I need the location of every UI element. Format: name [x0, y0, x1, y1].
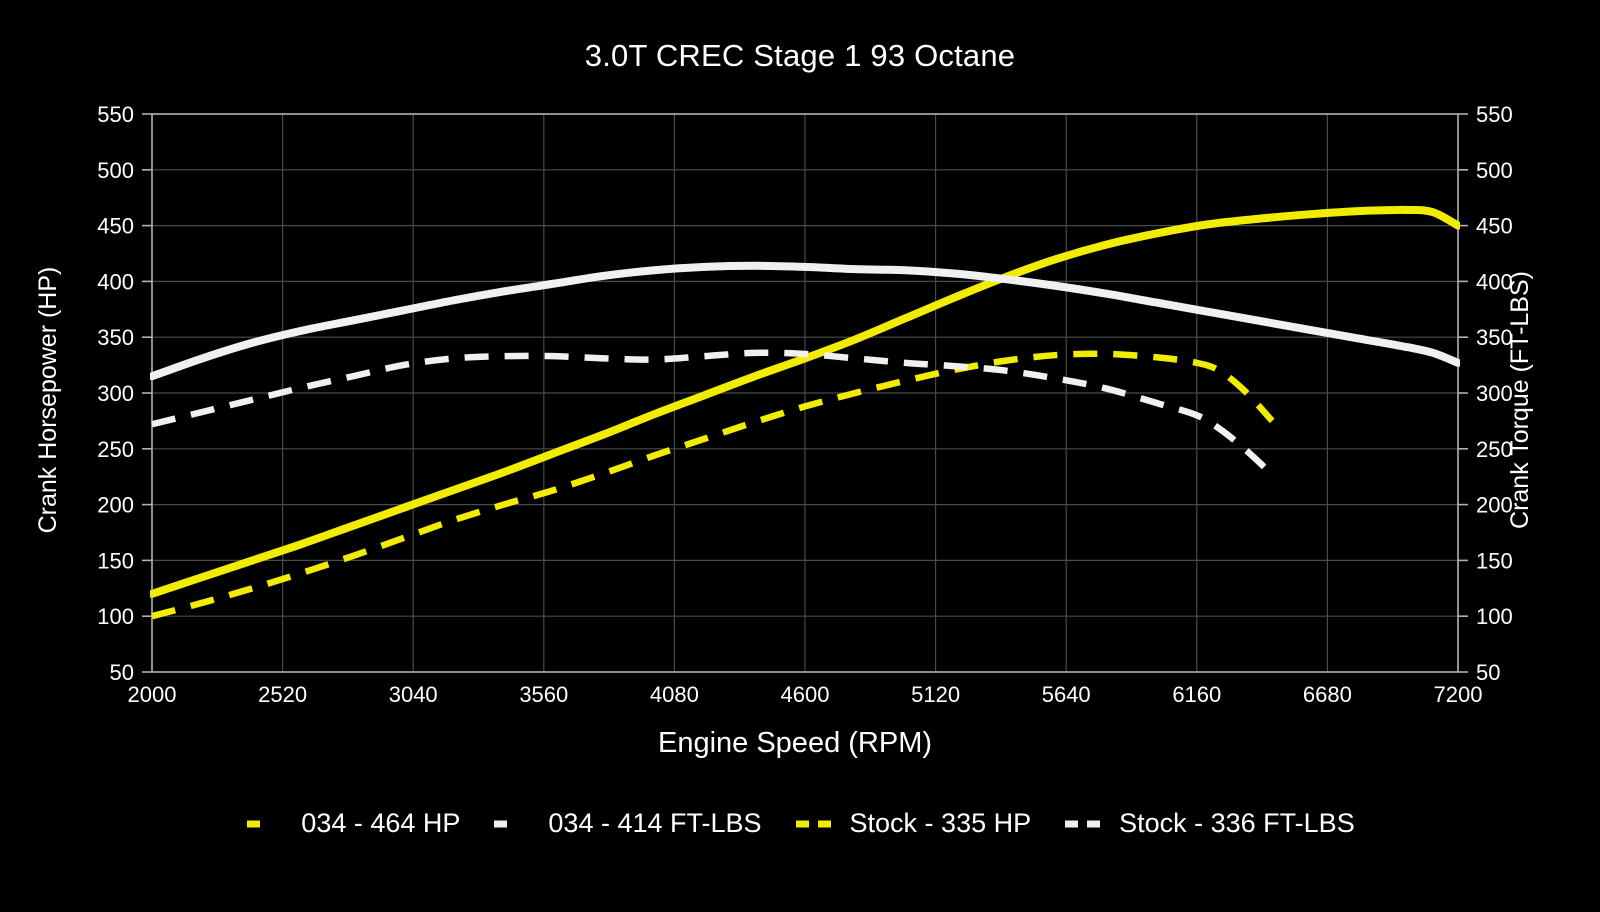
- legend-swatch-icon: [1063, 811, 1109, 837]
- legend-item-3[interactable]: Stock - 335 HP: [794, 808, 1032, 839]
- x-tick-label: 6160: [1172, 682, 1221, 707]
- y-tick-label-right: 450: [1476, 214, 1513, 239]
- y-tick-label-left: 250: [97, 437, 134, 462]
- y-tick-label-right: 150: [1476, 548, 1513, 573]
- x-tick-label: 3560: [519, 682, 568, 707]
- y-axis-label-right: Crank Torque (FT-LBS): [1506, 271, 1534, 529]
- legend-item-2[interactable]: 034 - 414 FT-LBS: [492, 808, 761, 839]
- dyno-chart-page: 3.0T CREC Stage 1 93 Octane 501001502002…: [0, 0, 1600, 912]
- legend-item-1[interactable]: 034 - 464 HP: [245, 808, 460, 839]
- y-tick-label-left: 150: [97, 548, 134, 573]
- y-tick-label-left: 450: [97, 214, 134, 239]
- x-tick-label: 4600: [781, 682, 830, 707]
- x-axis-label: Engine Speed (RPM): [658, 727, 932, 759]
- y-tick-label-left: 100: [97, 604, 134, 629]
- y-tick-label-right: 550: [1476, 102, 1513, 127]
- legend-item-4[interactable]: Stock - 336 FT-LBS: [1063, 808, 1355, 839]
- y-tick-label-left: 300: [97, 381, 134, 406]
- legend-item-label: 034 - 464 HP: [301, 808, 460, 839]
- legend-swatch-icon: [794, 811, 840, 837]
- x-tick-label: 2000: [128, 682, 177, 707]
- y-axis-label-left: Crank Horsepower (HP): [34, 267, 62, 534]
- y-tick-label-left: 200: [97, 493, 134, 518]
- series-line-4: [152, 353, 1272, 475]
- chart-legend: 034 - 464 HP034 - 414 FT-LBSStock - 335 …: [0, 808, 1600, 839]
- grid-lines: [152, 114, 1458, 672]
- y-tick-label-left: 550: [97, 102, 134, 127]
- x-tick-label: 5640: [1042, 682, 1091, 707]
- legend-item-label: 034 - 414 FT-LBS: [548, 808, 761, 839]
- legend-swatch-icon: [245, 811, 291, 837]
- x-tick-label: 4080: [650, 682, 699, 707]
- x-tick-label: 7200: [1434, 682, 1483, 707]
- y-tick-label-left: 400: [97, 269, 134, 294]
- dyno-chart-plot: 5010015020025030035040045050055050100150…: [0, 0, 1600, 912]
- legend-swatch-icon: [492, 811, 538, 837]
- y-tick-label-left: 350: [97, 325, 134, 350]
- x-tick-label: 2520: [258, 682, 307, 707]
- legend-item-label: Stock - 335 HP: [850, 808, 1032, 839]
- y-tick-label-right: 100: [1476, 604, 1513, 629]
- x-tick-label: 6680: [1303, 682, 1352, 707]
- x-tick-label: 3040: [389, 682, 438, 707]
- x-tick-label: 5120: [911, 682, 960, 707]
- y-tick-label-left: 500: [97, 158, 134, 183]
- y-tick-label-right: 500: [1476, 158, 1513, 183]
- legend-item-label: Stock - 336 FT-LBS: [1119, 808, 1355, 839]
